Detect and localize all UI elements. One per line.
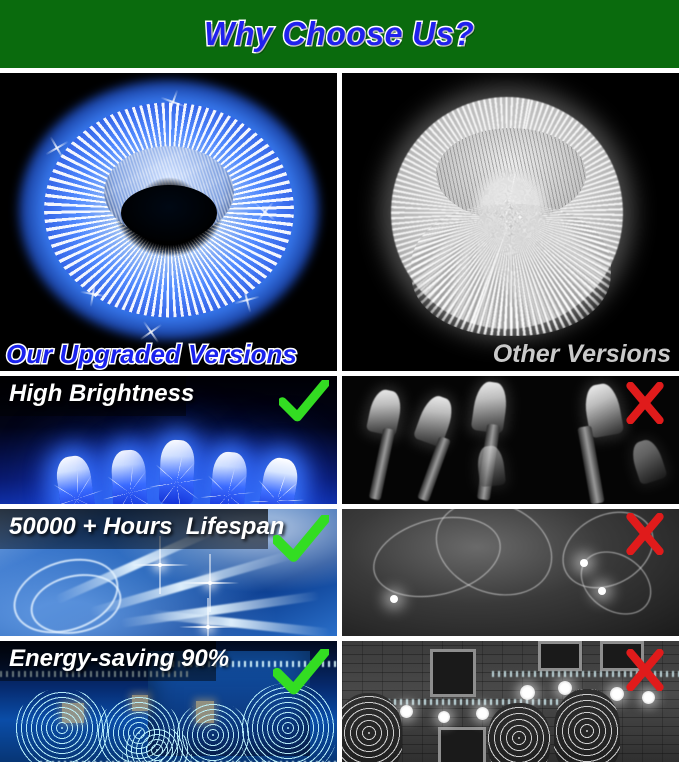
cell-row2-left: High Brightness — [0, 376, 337, 504]
label-lifespan: 50000 + Hours Lifespan — [9, 515, 284, 539]
cell-row1-right: Other Versions — [342, 73, 679, 371]
cross-mark-icon — [625, 649, 665, 691]
cell-row4-left: Energy-saving 90% — [0, 641, 337, 762]
cell-row4-right — [342, 641, 679, 762]
cross-mark-icon — [625, 513, 665, 555]
label-high-brightness: High Brightness — [9, 382, 194, 406]
page-title: Why Choose Us? — [204, 15, 474, 53]
check-mark-icon — [273, 515, 329, 563]
blue-led-coil-photo — [0, 73, 337, 371]
poster-header: Why Choose Us? — [0, 0, 679, 68]
cell-row1-left: Our Upgraded Versions — [0, 73, 337, 371]
white-led-bundle-photo — [342, 73, 679, 371]
label-our-upgraded-versions: Our Upgraded Versions — [6, 341, 297, 367]
cross-mark-icon — [625, 382, 665, 424]
label-other-versions: Other Versions — [493, 342, 671, 367]
cell-row2-right — [342, 376, 679, 504]
cell-row3-left: 50000 + Hours Lifespan — [0, 509, 337, 636]
check-mark-icon — [279, 380, 329, 422]
check-mark-icon — [273, 649, 329, 695]
label-energy-saving: Energy-saving 90% — [9, 647, 229, 671]
why-choose-us-poster: Why Choose Us? Our Upgraded Versions — [0, 0, 679, 762]
cell-row3-right — [342, 509, 679, 636]
comparison-grid: Our Upgraded Versions Other Versions Hig… — [0, 68, 679, 762]
